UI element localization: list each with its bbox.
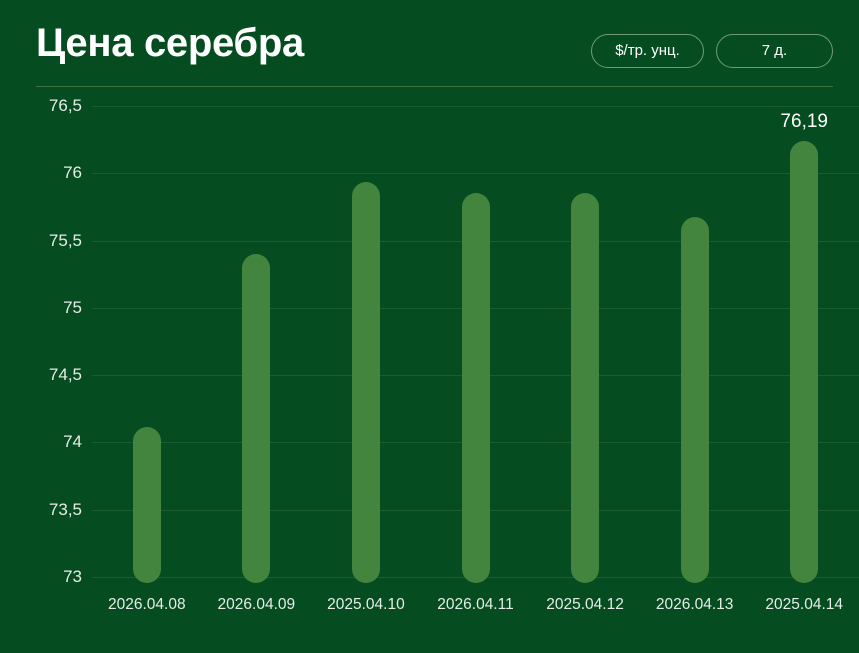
page-title: Цена серебра bbox=[36, 20, 304, 66]
x-axis-tick-label: 2025.04.14 bbox=[765, 596, 843, 614]
y-axis-tick-label: 75,5 bbox=[49, 231, 82, 251]
x-axis-tick-label: 2026.04.13 bbox=[656, 596, 734, 614]
x-axis-tick-label: 2025.04.12 bbox=[546, 596, 624, 614]
unit-toggle-button[interactable]: $/тр. унц. bbox=[591, 34, 704, 68]
x-axis-tick-label: 2026.04.08 bbox=[108, 596, 186, 614]
x-axis-tick-label: 2026.04.11 bbox=[437, 596, 513, 614]
y-axis-tick-label: 74,5 bbox=[49, 365, 82, 385]
y-axis-tick-label: 76,5 bbox=[49, 96, 82, 116]
chart-controls: $/тр. унц. 7 д. bbox=[591, 34, 833, 68]
bar[interactable] bbox=[242, 254, 270, 583]
bar-value-label: 76,19 bbox=[780, 111, 828, 133]
bar[interactable] bbox=[352, 182, 380, 583]
bar[interactable] bbox=[681, 217, 709, 583]
plot-area: 7373,57474,57575,57676,5 76,19 bbox=[0, 86, 859, 596]
y-axis-tick-label: 74 bbox=[63, 432, 82, 452]
silver-price-chart-widget: Цена серебра $/тр. унц. 7 д. 7373,57474,… bbox=[0, 0, 859, 653]
x-axis-tick-label: 2025.04.10 bbox=[327, 596, 405, 614]
bar[interactable] bbox=[571, 193, 599, 583]
widget-header: Цена серебра $/тр. унц. 7 д. bbox=[0, 0, 859, 86]
y-axis-tick-label: 73,5 bbox=[49, 500, 82, 520]
bar[interactable] bbox=[133, 427, 161, 583]
y-axis-tick-label: 76 bbox=[63, 163, 82, 183]
range-toggle-button[interactable]: 7 д. bbox=[716, 34, 833, 68]
bar[interactable] bbox=[790, 141, 818, 583]
y-axis-tick-label: 75 bbox=[63, 298, 82, 318]
bar[interactable] bbox=[462, 193, 490, 583]
y-axis-tick-label: 73 bbox=[63, 567, 82, 587]
y-axis: 7373,57474,57575,57676,5 bbox=[0, 86, 92, 596]
x-axis: 2026.04.082026.04.092025.04.102026.04.11… bbox=[92, 596, 859, 626]
x-axis-tick-label: 2026.04.09 bbox=[218, 596, 296, 614]
bar-series: 76,19 bbox=[92, 86, 859, 596]
